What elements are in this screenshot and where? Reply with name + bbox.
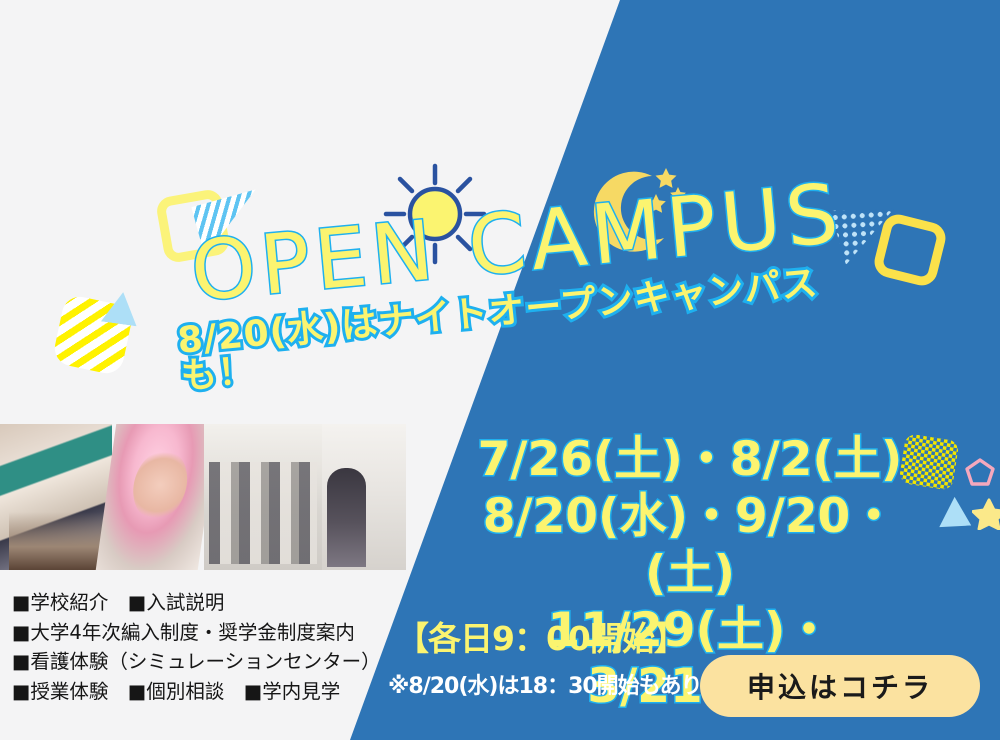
open-campus-banner: OPEN CAMPUS 8/20(水)はナイトオープンキャンパスも！ 7/26(… bbox=[0, 0, 1000, 740]
pentagon-icon bbox=[964, 457, 996, 487]
start-time-note: ※8/20(水)は18：30開始もあり bbox=[388, 668, 702, 700]
photo-simulation-center bbox=[204, 424, 322, 570]
program-list: ■学校紹介 ■入試説明 ■大学4年次編入制度・奨学金制度案内 ■看護体験（シミュ… bbox=[12, 588, 381, 707]
apply-button[interactable]: 申込はコチラ bbox=[700, 655, 980, 717]
start-time-label: 【各日9：00開始】 bbox=[396, 622, 686, 657]
program-list-item: ■看護体験（シミュレーションセンター） bbox=[12, 647, 381, 677]
event-date-line: 8/20(水)・9/20・(土) bbox=[455, 489, 925, 603]
program-list-item: ■学校紹介 ■入試説明 bbox=[12, 588, 381, 618]
photo-brochure bbox=[96, 424, 219, 570]
photo-campus-tour bbox=[322, 424, 406, 570]
program-list-item: ■授業体験 ■個別相談 ■学内見学 bbox=[12, 677, 381, 707]
photo-collage-strip bbox=[0, 424, 410, 570]
star-icon bbox=[972, 498, 1000, 530]
event-date-line: 7/26(土)・8/2(土) bbox=[455, 432, 925, 489]
photo-open-campus-booth bbox=[0, 424, 112, 570]
program-list-item: ■大学4年次編入制度・奨学金制度案内 bbox=[12, 618, 381, 648]
